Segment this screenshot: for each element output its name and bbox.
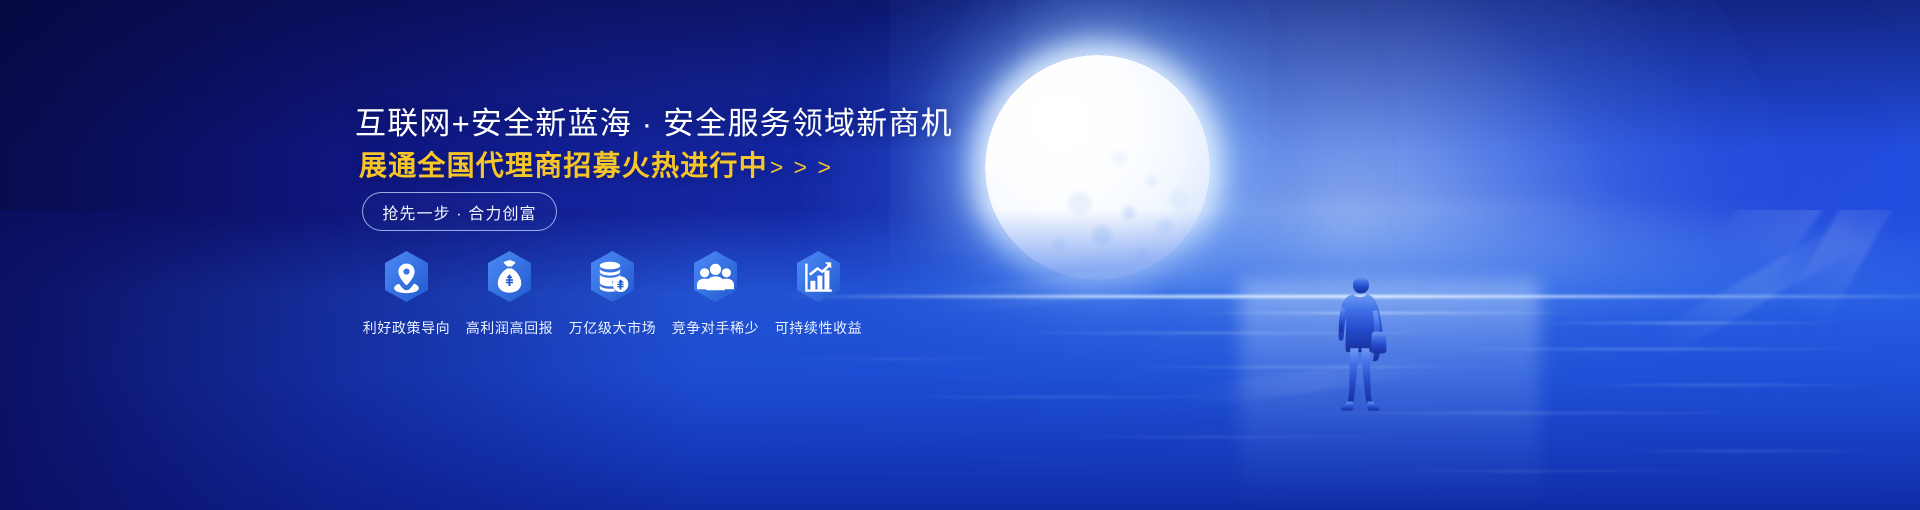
feature-label: 万亿级大市场 [569,318,657,338]
businessman-silhouette-icon [1334,275,1398,418]
promo-banner: 互联网+安全新蓝海 · 安全服务领域新商机 展通全国代理商招募火热进行中> > … [0,0,1920,510]
coin-stack-yen-icon [589,250,636,303]
feature-item[interactable]: 高利润高回报 [458,250,561,338]
cta-pill-button[interactable]: 抢先一步 · 合力创富 [362,192,557,231]
feature-item[interactable]: 可持续性收益 [767,250,870,338]
feature-label: 竞争对手稀少 [672,318,760,338]
feature-item[interactable]: 万亿级大市场 [561,250,664,338]
feature-item[interactable]: 利好政策导向 [355,250,458,338]
cta-pill-label: 抢先一步 · 合力创富 [382,200,536,224]
subheadline-text: 展通全国代理商招募火热进行中 [359,150,768,181]
feature-label: 可持续性收益 [775,318,863,338]
banner-headline: 互联网+安全新蓝海 · 安全服务领域新商机 [355,98,953,143]
growth-bar-chart-icon [795,250,842,303]
people-group-icon [692,250,739,303]
feature-label: 利好政策导向 [363,318,451,338]
feature-label: 高利润高回报 [466,318,554,338]
location-pin-icon [383,250,430,303]
feature-item[interactable]: 竞争对手稀少 [664,250,767,338]
banner-subheadline: 展通全国代理商招募火热进行中> > > [359,144,833,184]
subheadline-arrows: > > > [770,154,833,180]
money-bag-yen-icon [486,250,533,303]
feature-list: 利好政策导向 [355,250,870,338]
